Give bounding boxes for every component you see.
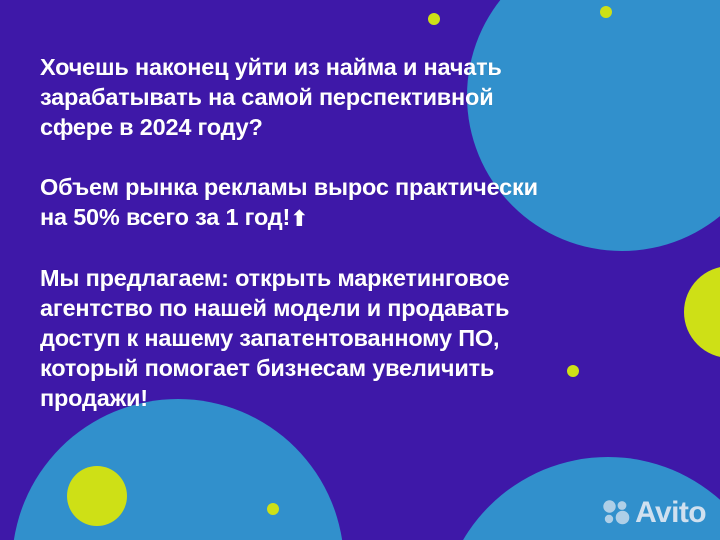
promo-paragraph-1: Хочешь наконец уйти из найма и начать за… xyxy=(40,52,560,142)
lime-dot-mid-right xyxy=(567,365,579,377)
lime-circle-right-edge xyxy=(684,266,720,358)
lime-dot-bottom-center xyxy=(267,503,279,515)
promo-paragraph-2: Объем рынка рекламы вырос практически на… xyxy=(40,172,560,232)
lime-circle-bottom-left xyxy=(67,466,127,526)
arrow-up-icon: ⬆ xyxy=(290,208,308,230)
promo-copy: Хочешь наконец уйти из найма и начать за… xyxy=(40,52,560,413)
avito-watermark: Avito xyxy=(601,498,706,528)
promo-paragraph-3: Мы предлагаем: открыть маркетинговое аге… xyxy=(40,263,560,413)
avito-dots-icon xyxy=(601,498,631,528)
avito-wordmark: Avito xyxy=(635,498,706,528)
lime-dot-top-center xyxy=(428,13,440,25)
lime-dot-top-right xyxy=(600,6,612,18)
promo-paragraph-2-text: Объем рынка рекламы вырос практически на… xyxy=(40,174,538,230)
blue-circle-bottom-left xyxy=(12,399,344,540)
promo-slide: Хочешь наконец уйти из найма и начать за… xyxy=(0,0,720,540)
